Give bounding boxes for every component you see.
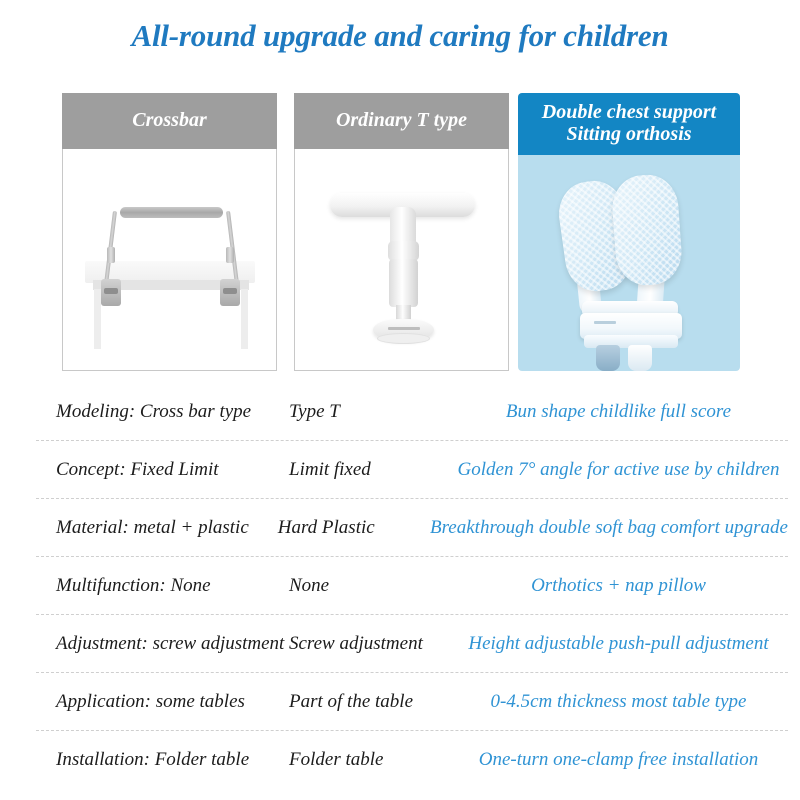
table-row: Application: some tables Part of the tab… bbox=[36, 673, 788, 731]
comparison-table: Modeling: Cross bar type Type T Bun shap… bbox=[36, 383, 788, 788]
cell-t-type: Type T bbox=[289, 401, 449, 423]
t-type-logo-mark bbox=[388, 327, 420, 330]
cell-orthosis: Bun shape childlike full score bbox=[449, 401, 788, 423]
card-image-crossbar bbox=[62, 149, 277, 371]
cell-crossbar: Adjustment: screw adjustment bbox=[36, 633, 289, 655]
page-title: All-round upgrade and caring for childre… bbox=[0, 18, 800, 54]
cell-crossbar: Modeling: Cross bar type bbox=[36, 401, 289, 423]
table-row: Concept: Fixed Limit Limit fixed Golden … bbox=[36, 441, 788, 499]
cell-t-type: Hard Plastic bbox=[278, 517, 430, 539]
chest-support-knob-right-shape bbox=[628, 345, 652, 371]
cell-crossbar: Material: metal + plastic bbox=[36, 517, 278, 539]
table-row: Material: metal + plastic Hard Plastic B… bbox=[36, 499, 788, 557]
table-row: Adjustment: screw adjustment Screw adjus… bbox=[36, 615, 788, 673]
crossbar-product-illustration bbox=[63, 149, 276, 370]
t-type-shaft-shape bbox=[389, 259, 418, 307]
cell-orthosis: Breakthrough double soft bag comfort upg… bbox=[430, 517, 788, 539]
card-header-label: Crossbar bbox=[132, 110, 206, 132]
chest-pad-right-shape bbox=[610, 173, 684, 287]
product-card-ordinary-t-type[interactable]: Ordinary T type bbox=[294, 93, 509, 371]
crossbar-clamp-left-shape bbox=[101, 279, 121, 306]
product-card-row: Crossbar Ordinary T type bbox=[62, 93, 742, 373]
cell-t-type: None bbox=[289, 575, 449, 597]
cell-orthosis: 0-4.5cm thickness most table type bbox=[449, 691, 788, 713]
crossbar-joint-right-shape bbox=[226, 247, 234, 263]
table-row: Installation: Folder table Folder table … bbox=[36, 731, 788, 788]
cell-crossbar: Concept: Fixed Limit bbox=[36, 459, 289, 481]
crossbar-bar-shape bbox=[120, 207, 223, 218]
cell-crossbar: Multifunction: None bbox=[36, 575, 289, 597]
card-image-ordinary-t-type bbox=[294, 149, 509, 371]
t-type-shaft-top-shape bbox=[388, 241, 419, 261]
cell-t-type: Part of the table bbox=[289, 691, 449, 713]
card-header-crossbar: Crossbar bbox=[62, 93, 277, 149]
cell-t-type: Limit fixed bbox=[289, 459, 449, 481]
product-card-double-chest-support[interactable]: Double chest support Sitting orthosis bbox=[518, 93, 740, 371]
card-image-double-chest-support bbox=[518, 155, 740, 371]
card-header-label: Ordinary T type bbox=[336, 110, 467, 132]
cell-orthosis: One-turn one-clamp free installation bbox=[449, 749, 788, 771]
cell-t-type: Folder table bbox=[289, 749, 449, 771]
cell-orthosis: Height adjustable push-pull adjustment bbox=[449, 633, 788, 655]
chest-support-logo-mark bbox=[594, 321, 616, 324]
cell-t-type: Screw adjustment bbox=[289, 633, 449, 655]
card-header-double-chest-support: Double chest support Sitting orthosis bbox=[518, 93, 740, 155]
t-type-product-illustration bbox=[295, 149, 508, 370]
table-leg-right-shape bbox=[241, 289, 248, 349]
chest-support-knob-left-shape bbox=[596, 345, 620, 371]
card-header-label-line2: Sitting orthosis bbox=[542, 124, 716, 146]
cell-orthosis: Golden 7° angle for active use by childr… bbox=[449, 459, 788, 481]
crossbar-joint-left-shape bbox=[107, 247, 115, 263]
chest-support-product-illustration bbox=[518, 155, 740, 371]
table-row: Multifunction: None None Orthotics + nap… bbox=[36, 557, 788, 615]
crossbar-clamp-right-shape bbox=[220, 279, 240, 306]
cell-crossbar: Application: some tables bbox=[36, 691, 289, 713]
table-row: Modeling: Cross bar type Type T Bun shap… bbox=[36, 383, 788, 441]
cell-orthosis: Orthotics + nap pillow bbox=[449, 575, 788, 597]
card-header-label-line1: Double chest support bbox=[542, 102, 716, 124]
product-card-crossbar[interactable]: Crossbar bbox=[62, 93, 277, 371]
table-leg-left-shape bbox=[94, 289, 101, 349]
card-header-ordinary-t-type: Ordinary T type bbox=[294, 93, 509, 149]
cell-crossbar: Installation: Folder table bbox=[36, 749, 289, 771]
t-type-base-ring-shape bbox=[377, 333, 430, 344]
